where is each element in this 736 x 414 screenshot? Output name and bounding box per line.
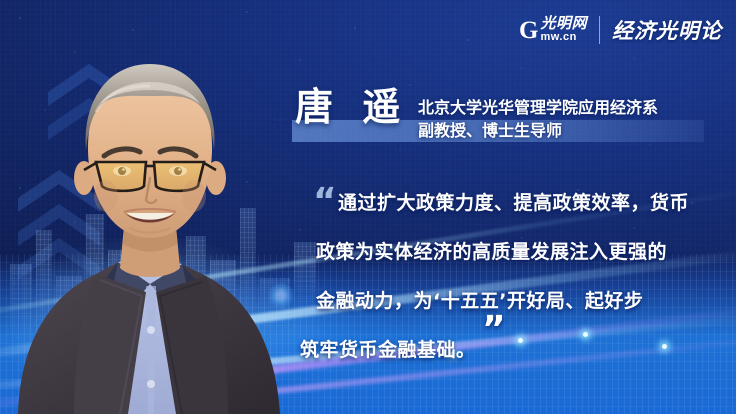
broadcast-quote-card: G 光明网 mw.cn 经济光明论 唐 遥 北京大学光华管理学院应用经济系 副教… xyxy=(0,0,736,414)
vignette-overlay xyxy=(0,0,736,414)
